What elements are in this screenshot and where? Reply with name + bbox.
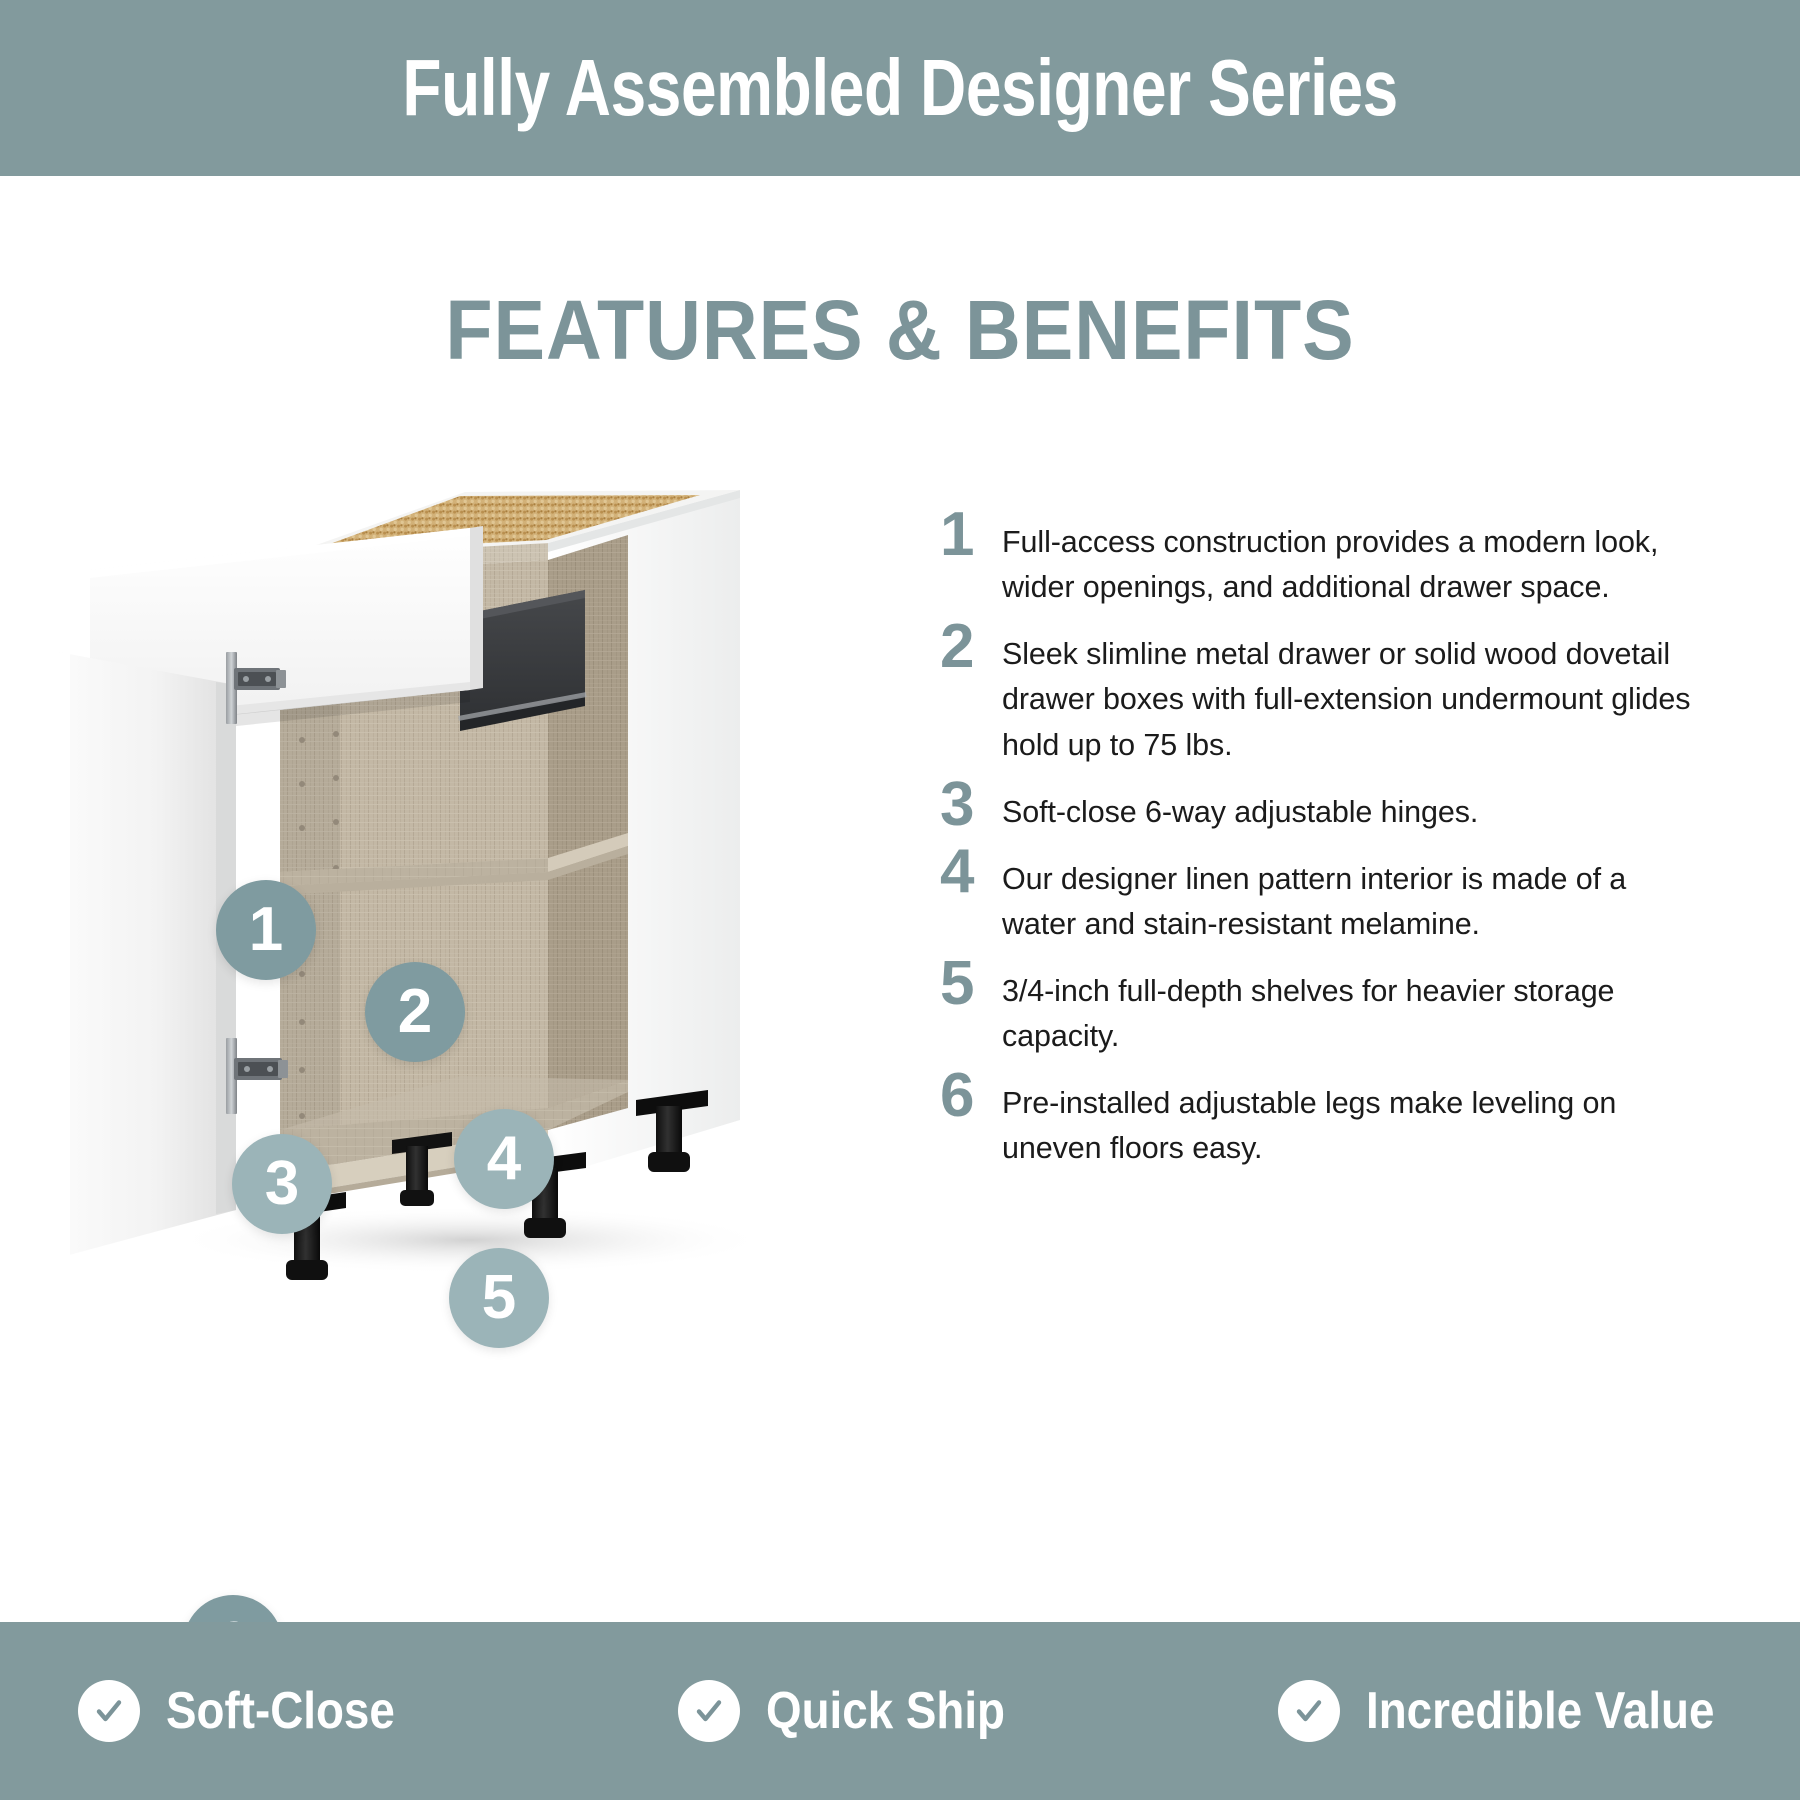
footer-badge-incredible-value: Incredible Value [1200, 1680, 1800, 1742]
feature-number: 5 [940, 955, 1002, 1014]
callout-number: 1 [249, 899, 283, 961]
feature-number: 2 [940, 618, 1002, 677]
callout-number: 4 [487, 1128, 521, 1190]
header-bar: Fully Assembled Designer Series [0, 0, 1800, 176]
callout-number: 5 [482, 1267, 516, 1329]
feature-description: Our designer linen pattern interior is m… [1002, 857, 1700, 947]
feature-item-6: 6 Pre-installed adjustable legs make lev… [940, 1081, 1700, 1171]
page-title: Fully Assembled Designer Series [402, 48, 1397, 128]
feature-description: 3/4-inch full-depth shelves for heavier … [1002, 969, 1700, 1059]
callout-5: 5 [449, 1248, 549, 1348]
section-title: FEATURES & BENEFITS [72, 288, 1728, 372]
callout-4: 4 [454, 1109, 554, 1209]
feature-item-3: 3 Soft-close 6-way adjustable hinges. [940, 790, 1700, 835]
footer-badge-soft-close: Soft-Close [0, 1680, 600, 1742]
feature-number: 1 [940, 506, 1002, 565]
check-circle-icon [78, 1680, 140, 1742]
callout-number: 2 [398, 981, 432, 1043]
footer-badge-quick-ship: Quick Ship [600, 1680, 1200, 1742]
feature-number: 3 [940, 776, 1002, 835]
feature-description: Full-access construction provides a mode… [1002, 520, 1700, 610]
feature-item-4: 4 Our designer linen pattern interior is… [940, 857, 1700, 947]
footer-badge-label: Incredible Value [1366, 1685, 1714, 1737]
callout-2: 2 [365, 962, 465, 1062]
footer-badge-label: Soft-Close [166, 1685, 395, 1737]
features-list: 1 Full-access construction provides a mo… [940, 520, 1700, 1194]
callout-number: 3 [265, 1153, 299, 1215]
lower-hinge [226, 1038, 288, 1114]
check-circle-icon [1278, 1680, 1340, 1742]
feature-item-1: 1 Full-access construction provides a mo… [940, 520, 1700, 610]
feature-description: Soft-close 6-way adjustable hinges. [1002, 790, 1700, 835]
feature-number: 6 [940, 1067, 1002, 1126]
callout-3: 3 [232, 1134, 332, 1234]
product-illustration: 1 2 3 4 5 6 [40, 440, 870, 1320]
feature-description: Pre-installed adjustable legs make level… [1002, 1081, 1700, 1171]
feature-number: 4 [940, 843, 1002, 902]
check-circle-icon [678, 1680, 740, 1742]
feature-item-5: 5 3/4-inch full-depth shelves for heavie… [940, 969, 1700, 1059]
footer-badge-label: Quick Ship [766, 1685, 1005, 1737]
feature-description: Sleek slimline metal drawer or solid woo… [1002, 632, 1700, 767]
feature-item-2: 2 Sleek slimline metal drawer or solid w… [940, 632, 1700, 767]
cabinet-diagram [40, 440, 870, 1320]
footer-bar: Soft-Close Quick Ship Incredible Value [0, 1622, 1800, 1800]
callout-1: 1 [216, 880, 316, 980]
